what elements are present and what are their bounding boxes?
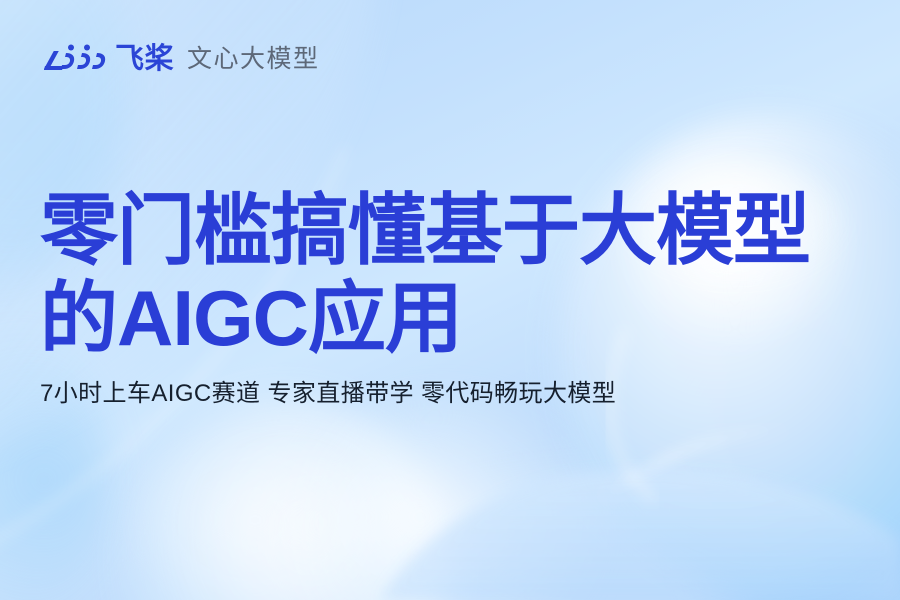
background-orb-bottom-band — [330, 470, 900, 600]
promo-banner: 飞桨 文心大模型 零门槛搞懂基于大模型 的AIGC应用 7小时上车AIGC赛道 … — [0, 0, 900, 600]
background-orb-bottom-left — [0, 330, 110, 600]
curve-bottom-wave — [380, 470, 900, 600]
brand-logo-lockup: 飞桨 文心大模型 — [44, 44, 320, 74]
background-orb-mid-soft — [300, 400, 600, 600]
curve-gloss-streak — [600, 430, 790, 500]
subtitle: 7小时上车AIGC赛道 专家直播带学 零代码畅玩大模型 — [40, 378, 616, 410]
glow-lower-middle — [125, 425, 385, 600]
background-orb-right-deep — [700, 330, 900, 600]
background-orb-center-low — [120, 395, 450, 600]
brand-wordmark: 飞桨 — [115, 45, 174, 74]
headline: 零门槛搞懂基于大模型 的AIGC应用 — [40, 186, 880, 362]
headline-line-2: 的AIGC应用 — [40, 274, 880, 362]
headline-line-1: 零门槛搞懂基于大模型 — [40, 186, 880, 274]
paddlepaddle-logo-icon — [44, 44, 106, 74]
brand-product-name: 文心大模型 — [187, 47, 320, 72]
